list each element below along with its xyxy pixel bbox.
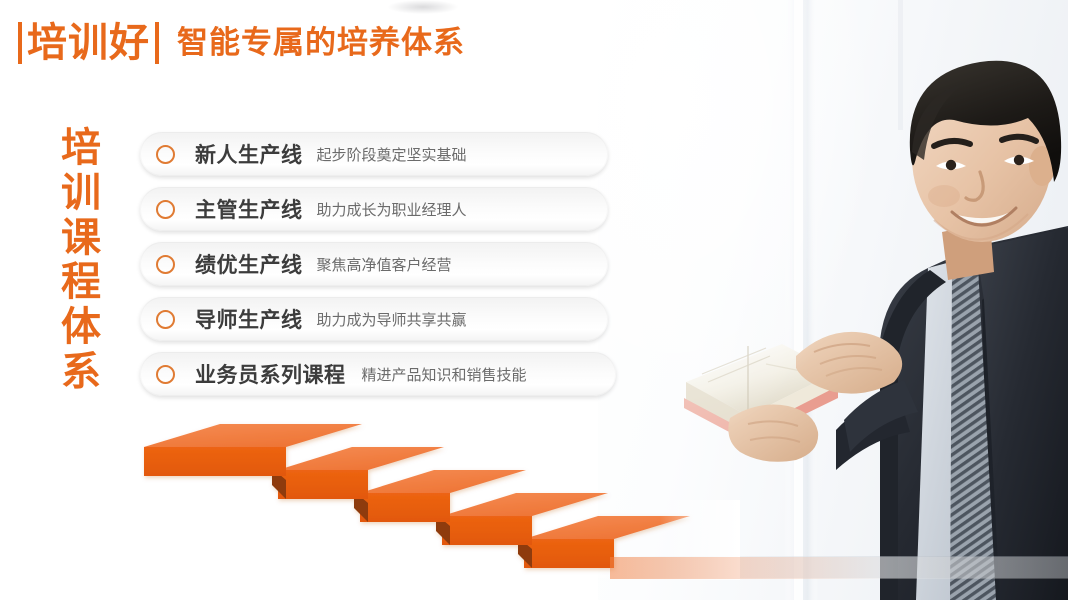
slide-title: 培训好 智能专属的培养体系 <box>18 22 465 64</box>
ring-icon <box>156 255 175 274</box>
course-title: 业务员系列课程 <box>195 359 346 389</box>
course-description: 助力成长为职业经理人 <box>317 199 467 220</box>
vertical-label-char: 课 <box>50 216 112 261</box>
vertical-label-char: 程 <box>50 260 112 305</box>
vertical-label-char: 体 <box>50 305 112 350</box>
vertical-label-char: 系 <box>50 350 112 395</box>
course-item-2[interactable]: 主管生产线 助力成长为职业经理人 <box>140 187 608 231</box>
ring-icon <box>156 145 175 164</box>
vertical-label-char: 培 <box>50 126 112 171</box>
course-description: 聚焦高净值客户经营 <box>317 254 452 275</box>
staircase-svg <box>120 420 740 595</box>
course-description: 精进产品知识和销售技能 <box>362 364 527 385</box>
course-title: 绩优生产线 <box>195 249 303 279</box>
course-description: 起步阶段奠定坚实基础 <box>317 144 467 165</box>
course-list: 新人生产线 起步阶段奠定坚实基础 主管生产线 助力成长为职业经理人 绩优生产线 … <box>140 132 620 407</box>
top-smudge-decoration <box>388 0 458 14</box>
course-item-4[interactable]: 导师生产线 助力成为导师共享共赢 <box>140 297 608 341</box>
staircase-graphic <box>120 420 740 595</box>
ring-icon <box>156 365 175 384</box>
course-title: 导师生产线 <box>195 304 303 334</box>
title-main-text: 培训好 <box>27 23 150 63</box>
ring-icon <box>156 200 175 219</box>
title-sub-text: 智能专属的培养体系 <box>177 28 465 59</box>
course-description: 助力成为导师共享共赢 <box>317 309 467 330</box>
vertical-section-label: 培 训 课 程 体 系 <box>50 126 112 395</box>
vertical-label-char: 训 <box>50 171 112 216</box>
course-title: 新人生产线 <box>195 139 303 169</box>
title-right-bar-icon <box>155 22 159 64</box>
course-title: 主管生产线 <box>195 194 303 224</box>
course-item-5[interactable]: 业务员系列课程 精进产品知识和销售技能 <box>140 352 616 396</box>
course-item-1[interactable]: 新人生产线 起步阶段奠定坚实基础 <box>140 132 608 176</box>
course-item-3[interactable]: 绩优生产线 聚焦高净值客户经营 <box>140 242 608 286</box>
title-left-bar-icon <box>18 22 22 64</box>
slide-root: 培训好 智能专属的培养体系 培 训 课 程 体 系 新人生产线 起步阶段奠定坚实… <box>0 0 1068 600</box>
ring-icon <box>156 310 175 329</box>
